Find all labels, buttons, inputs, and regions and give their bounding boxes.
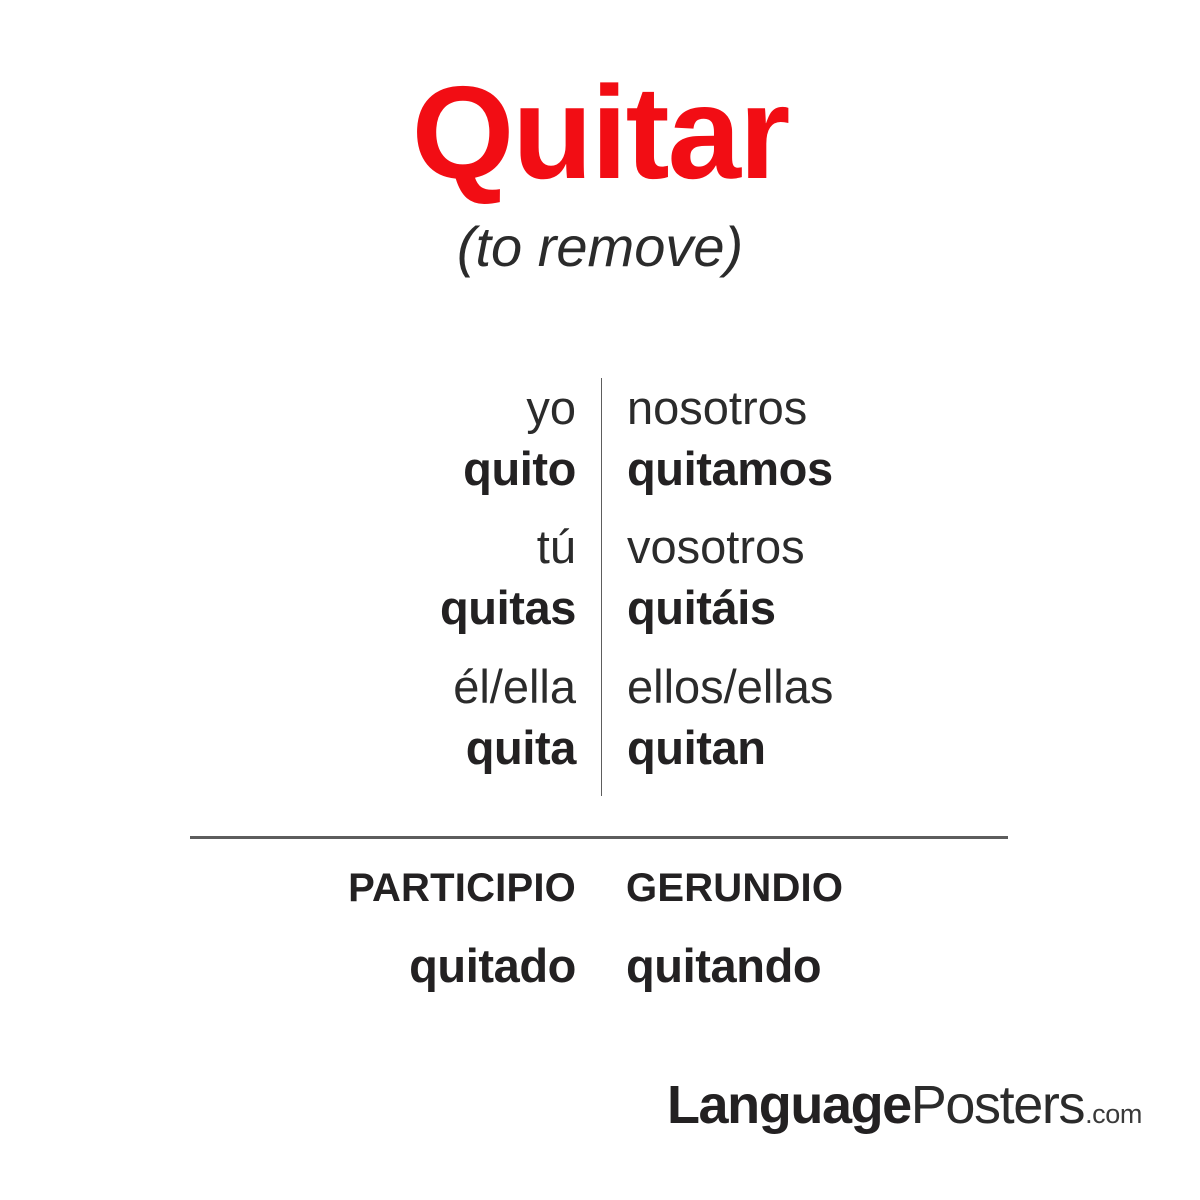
pronoun-tu: tú — [537, 517, 576, 577]
conjugation-cell-vosotros: vosotros quitáis — [602, 517, 1008, 656]
section-divider — [190, 836, 1008, 839]
verb-title: Quitar — [0, 62, 1200, 205]
pronoun-vosotros: vosotros — [627, 517, 805, 577]
pronoun-nosotros: nosotros — [627, 378, 807, 438]
gerundio-value: quitando — [626, 938, 821, 994]
pronoun-el-ella: él/ella — [453, 657, 576, 717]
conjugation-el-ella: quita — [466, 717, 576, 779]
brand-primary: Language — [667, 1078, 911, 1132]
participio-value: quitado — [409, 938, 576, 994]
conjugation-yo: quito — [463, 438, 576, 500]
gerundio-label: GERUNDIO — [626, 862, 843, 914]
pronoun-ellos-ellas: ellos/ellas — [627, 657, 833, 717]
conjugation-cell-el-ella: él/ella quita — [190, 657, 601, 796]
nonfinite-forms: PARTICIPIO quitado GERUNDIO quitando — [190, 862, 1008, 994]
verb-conjugation-poster: Quitar (to remove) yo quito nosotros qui… — [0, 0, 1200, 1200]
conjugation-cell-ellos-ellas: ellos/ellas quitan — [602, 657, 1008, 796]
brand-logo[interactable]: Language Posters .com — [667, 1078, 1142, 1132]
brand-tld: .com — [1085, 1101, 1142, 1128]
conjugation-cell-tu: tú quitas — [190, 517, 601, 656]
title-block: Quitar (to remove) — [0, 62, 1200, 279]
conjugation-tu: quitas — [440, 577, 576, 639]
pronoun-yo: yo — [526, 378, 576, 438]
conjugation-nosotros: quitamos — [627, 438, 833, 500]
participio-label: PARTICIPIO — [348, 862, 576, 914]
conjugation-cell-yo: yo quito — [190, 378, 601, 517]
conjugation-table: yo quito nosotros quitamos tú quitas vos… — [190, 378, 1008, 796]
brand-secondary: Posters — [911, 1078, 1084, 1132]
gerundio-cell: GERUNDIO quitando — [601, 862, 1008, 994]
participio-cell: PARTICIPIO quitado — [190, 862, 601, 994]
verb-translation: (to remove) — [0, 215, 1200, 279]
conjugation-ellos-ellas: quitan — [627, 717, 766, 779]
conjugation-cell-nosotros: nosotros quitamos — [602, 378, 1008, 517]
conjugation-vosotros: quitáis — [627, 577, 776, 639]
